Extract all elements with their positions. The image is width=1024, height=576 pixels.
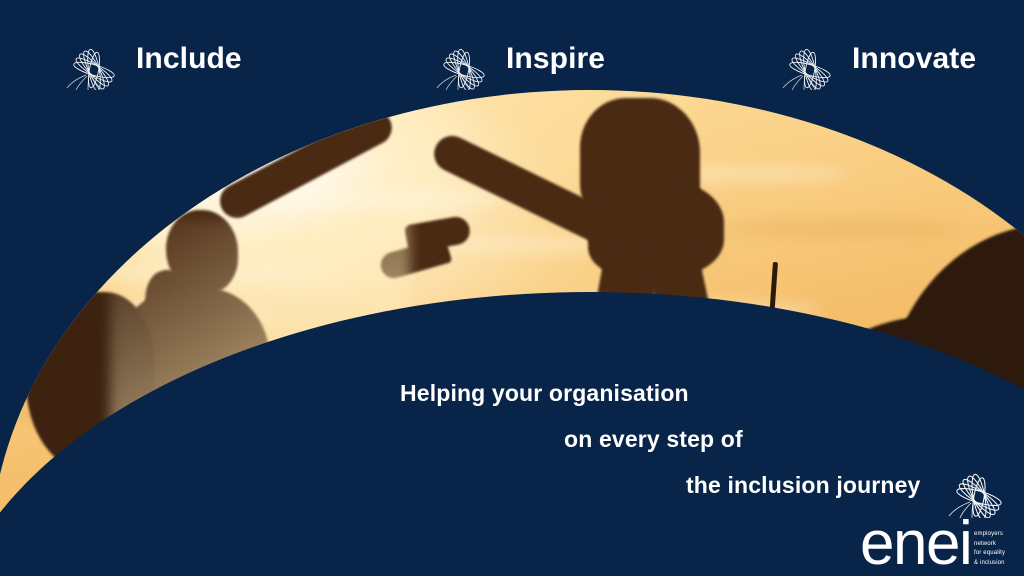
tagline-line-1: employers	[974, 530, 1020, 540]
tagline-line-4: & inclusion	[974, 559, 1020, 569]
headline-line-1: Helping your organisation	[392, 370, 952, 416]
slide-canvas: Include	[0, 0, 1024, 576]
enei-logo-lockup: enei employers network for equality & in…	[860, 452, 1024, 576]
enei-wordmark: enei	[860, 519, 971, 570]
pillar-innovate: Innovate	[782, 28, 976, 90]
enei-tagline: employers network for equality & inclusi…	[974, 530, 1020, 568]
tagline-line-2: network	[974, 540, 1020, 550]
enei-petal-flower-icon	[948, 452, 1010, 518]
pillar-label: Include	[136, 42, 242, 76]
pillar-include: Include	[66, 28, 242, 90]
pillar-label: Innovate	[852, 42, 976, 76]
pillar-label: Inspire	[506, 42, 605, 76]
enei-petal-flower-icon	[782, 28, 838, 90]
pillars-header: Include	[0, 0, 1024, 110]
enei-petal-flower-icon	[436, 28, 492, 90]
tagline-line-3: for equality	[974, 549, 1020, 559]
pillar-inspire: Inspire	[436, 28, 605, 90]
enei-petal-flower-icon	[66, 28, 122, 90]
